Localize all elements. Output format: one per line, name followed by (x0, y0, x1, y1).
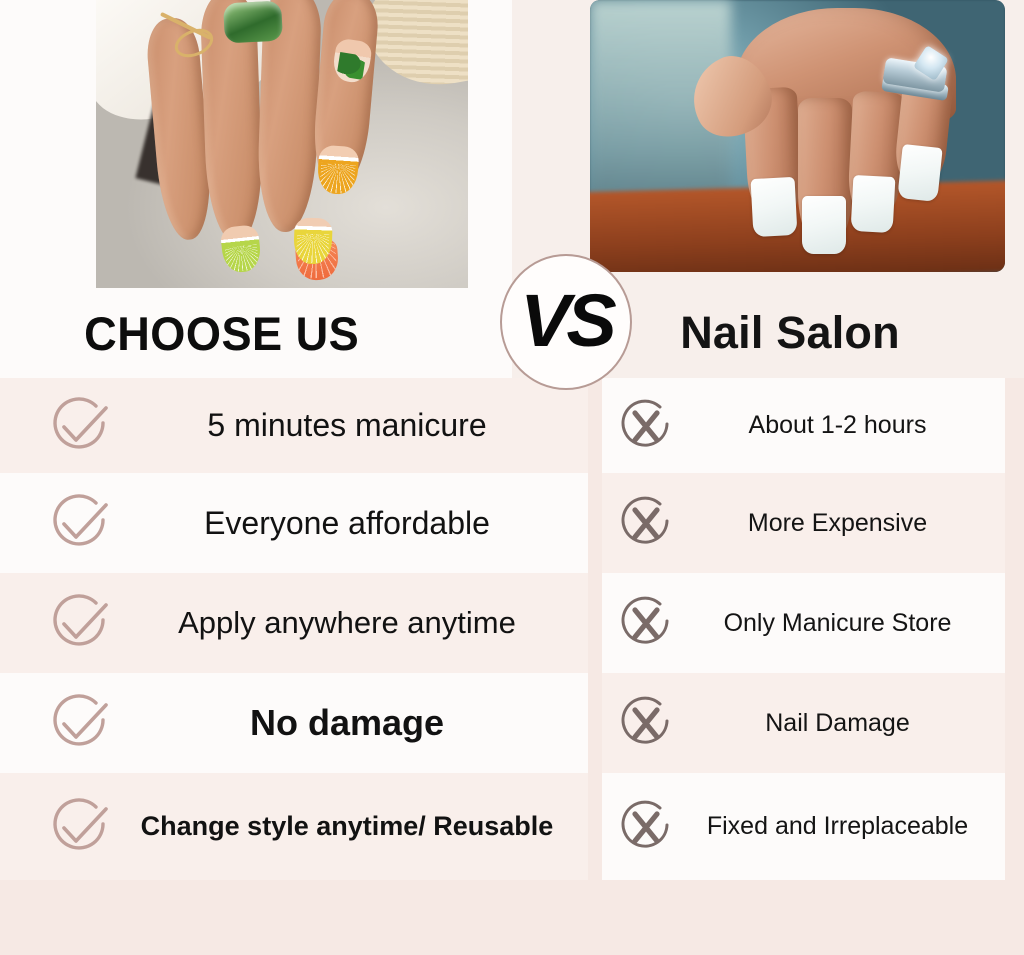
citrus-nail-art-hand-photo (96, 0, 468, 288)
table-row: More Expensive (602, 473, 1005, 573)
row-label: Change style anytime/ Reusable (114, 811, 588, 842)
nail-salon-column: About 1-2 hours More Expensive Only Mani… (602, 378, 1005, 900)
row-label: About 1-2 hours (676, 411, 1005, 440)
x-circle-icon (616, 396, 676, 456)
table-row: Everyone affordable (0, 473, 588, 573)
check-circle-icon (46, 793, 114, 861)
table-row: 5 minutes manicure (0, 378, 588, 473)
nail-salon-title: Nail Salon (680, 307, 900, 359)
vs-badge: VS (500, 254, 632, 390)
table-row: Fixed and Irreplaceable (602, 773, 1005, 880)
salon-white-manicure-hand-photo (590, 0, 1005, 272)
table-row: Apply anywhere anytime (0, 573, 588, 673)
check-circle-icon (46, 392, 114, 460)
row-label: Fixed and Irreplaceable (676, 812, 1005, 841)
photo-band (0, 0, 1024, 292)
table-row: Nail Damage (602, 673, 1005, 773)
row-label: Only Manicure Store (676, 609, 1005, 638)
table-row: Only Manicure Store (602, 573, 1005, 673)
x-circle-icon (616, 693, 676, 753)
choose-us-column: 5 minutes manicure Everyone affordable A… (0, 378, 588, 900)
x-circle-icon (616, 493, 676, 553)
check-circle-icon (46, 589, 114, 657)
x-circle-icon (616, 593, 676, 653)
comparison-table: 5 minutes manicure Everyone affordable A… (0, 378, 1024, 900)
row-label: No damage (114, 702, 588, 744)
table-row: About 1-2 hours (602, 378, 1005, 473)
row-label: Everyone affordable (114, 505, 588, 542)
table-row: Change style anytime/ Reusable (0, 773, 588, 880)
row-label: Apply anywhere anytime (114, 605, 588, 641)
row-label: More Expensive (676, 509, 1005, 538)
vs-label: VS (520, 278, 613, 363)
row-label: 5 minutes manicure (114, 407, 588, 444)
check-circle-icon (46, 489, 114, 557)
left-header: CHOOSE US (0, 288, 512, 378)
check-circle-icon (46, 689, 114, 757)
choose-us-title: CHOOSE US (84, 306, 359, 361)
row-label: Nail Damage (676, 709, 1005, 738)
table-row: No damage (0, 673, 588, 773)
x-circle-icon (616, 797, 676, 857)
